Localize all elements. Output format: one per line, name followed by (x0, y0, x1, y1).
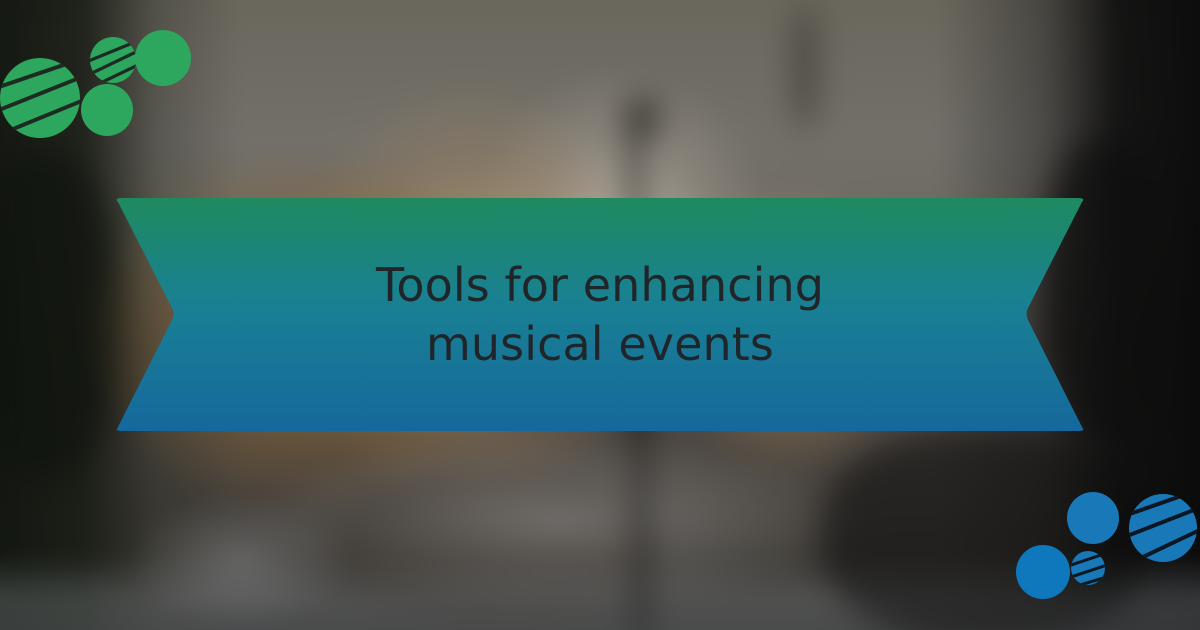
banner-title-line-2: musical events (426, 315, 774, 373)
banner-title: Tools for enhancing musical events (108, 196, 1092, 433)
title-banner: Tools for enhancing musical events (108, 196, 1092, 433)
blue-circle-striped-small (1068, 551, 1110, 588)
blue-circle-solid-medium (1016, 545, 1070, 599)
decoration-cluster-bottom-right (1000, 480, 1200, 630)
green-circle-solid-medium (81, 84, 133, 136)
green-circle-striped-small (86, 37, 140, 88)
promo-card: Tools for enhancing musical events (0, 0, 1200, 630)
decoration-cluster-top-left (0, 0, 210, 150)
green-circle-solid-large (135, 30, 191, 86)
green-circle-striped-large (0, 58, 84, 138)
blue-circle-solid-large (1067, 492, 1119, 544)
banner-title-line-1: Tools for enhancing (376, 256, 824, 314)
blue-circle-striped-large (1122, 488, 1200, 566)
